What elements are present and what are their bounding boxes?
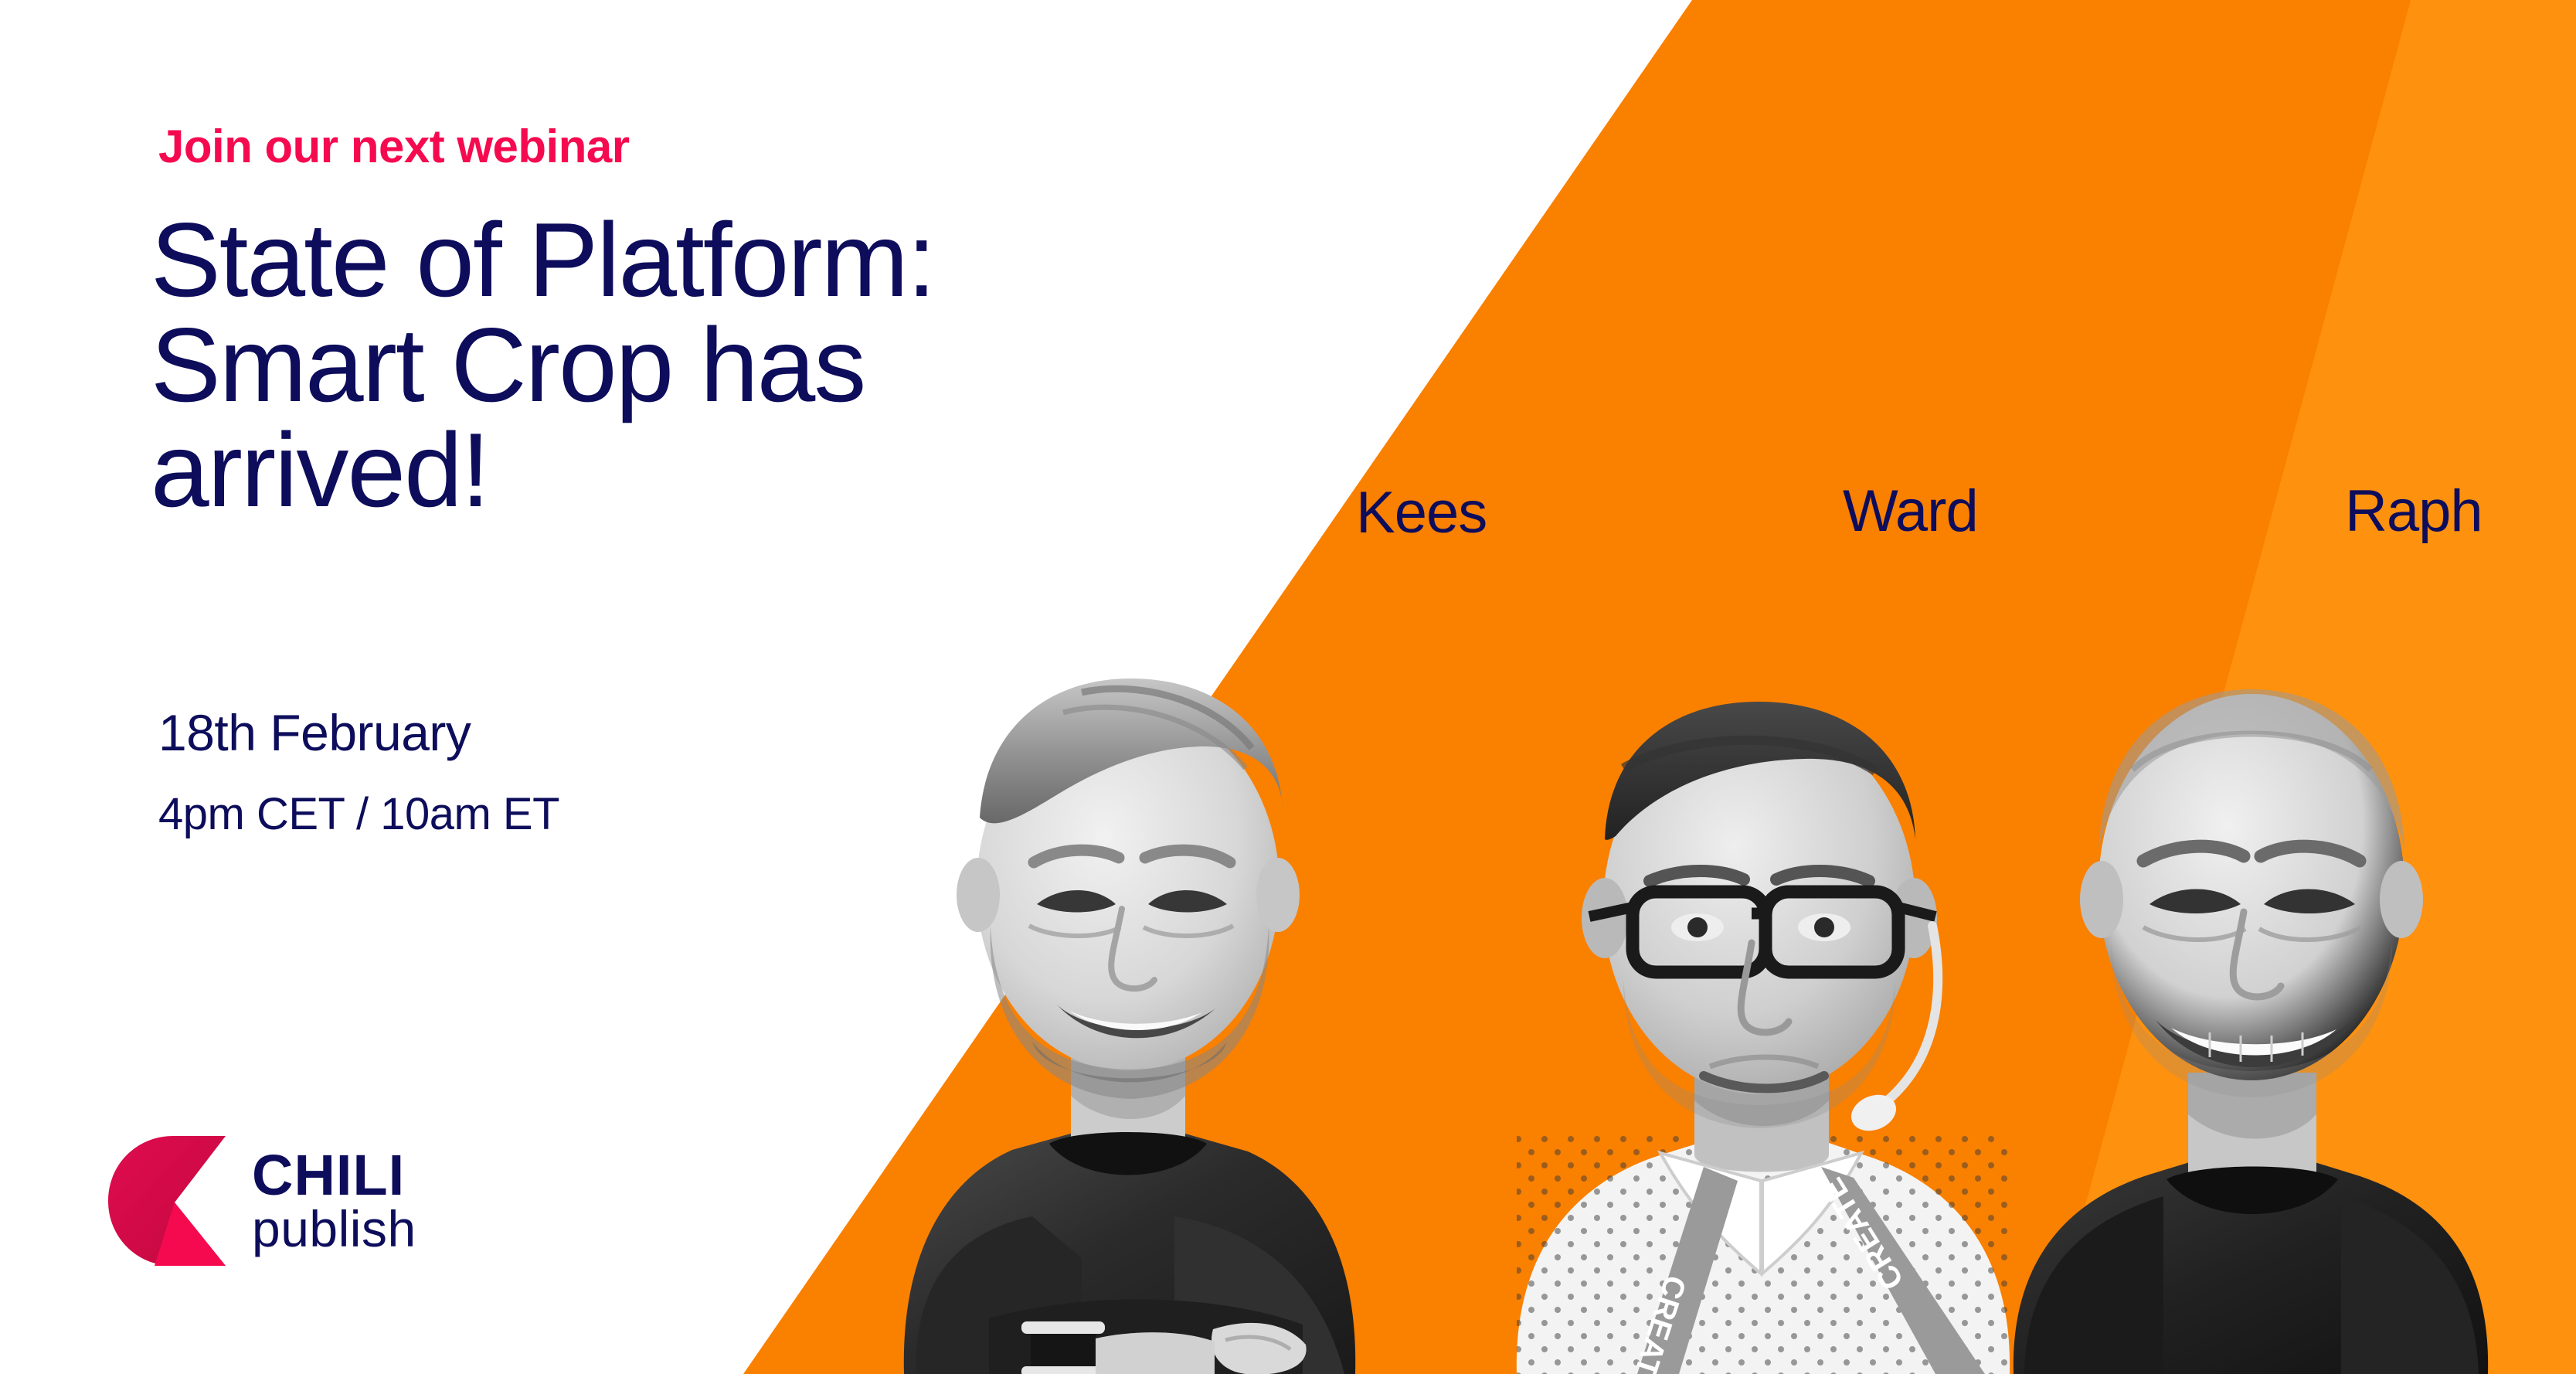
speaker-portrait-raph (1978, 563, 2519, 1374)
logo-chili-text: CHILI (252, 1148, 416, 1204)
speaker-name-ward: Ward (1843, 478, 1978, 545)
headline-line-1: State of Platform: (151, 207, 1171, 312)
event-time: 4pm CET / 10am ET (158, 788, 559, 840)
webinar-promo-banner: Join our next webinar State of Platform:… (0, 0, 2576, 1374)
speaker-name-kees: Kees (1356, 479, 1487, 546)
speaker-name-raph: Raph (2345, 478, 2483, 545)
chili-c-mark-icon (108, 1136, 226, 1266)
eyebrow-text: Join our next webinar (158, 120, 630, 173)
chili-publish-logo: CHILI publish (108, 1136, 416, 1266)
headline-line-3: arrived! (151, 417, 1171, 522)
page-title: State of Platform: Smart Crop has arrive… (151, 207, 1171, 522)
event-date: 18th February (158, 703, 471, 762)
speaker-portrait-ward: CREATE CREATE (1472, 593, 2044, 1374)
speaker-portrait-kees (850, 563, 1406, 1374)
headline-line-2: Smart Crop has (151, 312, 1171, 417)
logo-wordmark: CHILI publish (252, 1148, 416, 1253)
logo-publish-text: publish (252, 1204, 416, 1254)
